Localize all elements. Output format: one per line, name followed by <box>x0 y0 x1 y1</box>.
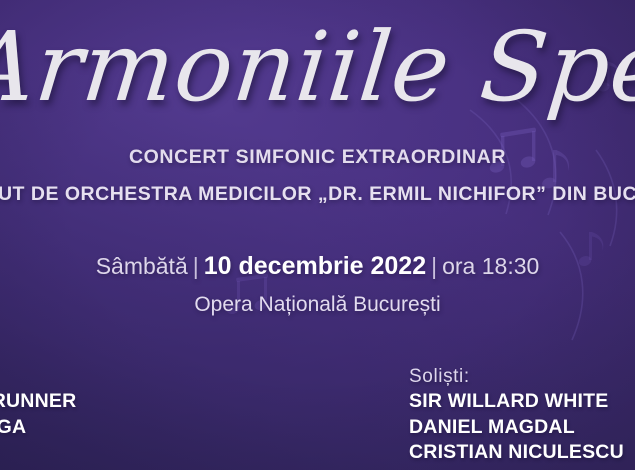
credits-conductors: Dirijori: SIMON PRUNNER PAUL JINGA <box>0 364 76 440</box>
date-separator-2: | <box>426 253 442 279</box>
poster-title: Armoniile Speranței <box>0 16 635 120</box>
soloist-name: CRISTIAN NICULESCU <box>409 440 624 465</box>
soloist-name: SIR WILLARD WHITE <box>409 389 624 414</box>
date-separator-1: | <box>188 253 204 279</box>
credits-soloists: Soliști: SIR WILLARD WHITE DANIEL MAGDAL… <box>409 364 624 465</box>
event-time: ora 18:30 <box>442 253 539 279</box>
conductor-name: PAUL JINGA <box>0 415 76 440</box>
event-date-line: Sâmbătă|10 decembrie 2022|ora 18:30 <box>0 252 635 281</box>
conductors-label: Dirijori: <box>0 364 76 389</box>
soloist-name: DANIEL MAGDAL <box>409 415 624 440</box>
conductor-name: SIMON PRUNNER <box>0 389 76 414</box>
concert-poster: Armoniile Speranței CONCERT SIMFONIC EXT… <box>0 0 635 470</box>
event-venue: Opera Națională București <box>0 293 635 317</box>
soloists-label: Soliști: <box>409 364 624 389</box>
event-date: 10 decembrie 2022 <box>204 252 426 280</box>
subtitle-line-1: CONCERT SIMFONIC EXTRAORDINAR <box>0 146 635 169</box>
subtitle-line-2: SUSȚINUT DE ORCHESTRA MEDICILOR „DR. ERM… <box>0 183 635 206</box>
event-weekday: Sâmbătă <box>96 253 188 279</box>
